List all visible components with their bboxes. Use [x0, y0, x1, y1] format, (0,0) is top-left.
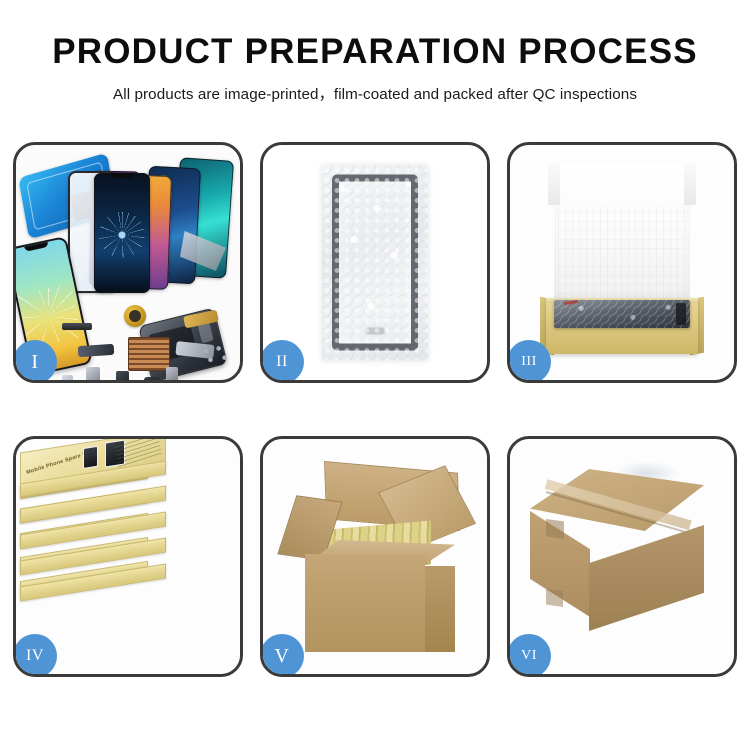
process-step-grid: I II III [13, 142, 737, 677]
bracket-part-icon [166, 367, 178, 380]
phone-notch-icon [24, 242, 49, 252]
step-badge-5: V [260, 634, 304, 677]
process-step-panel-6[interactable]: VI [507, 436, 737, 677]
speaker-coil-part-icon [124, 305, 146, 327]
packed-screen-graphic [554, 300, 690, 328]
process-step-panel-4[interactable]: Mobile Phone Spare Parts Mobile Phone Sp… [13, 436, 243, 677]
step-badge-6: VI [507, 634, 551, 677]
process-step-panel-1[interactable]: I [13, 142, 243, 383]
process-step-panel-2[interactable]: II [260, 142, 490, 383]
screen-crack-graphic [99, 212, 145, 258]
step-badge-2: II [260, 340, 304, 383]
phone-notch-icon [110, 173, 134, 178]
step-badge-3: III [507, 340, 551, 383]
taptic-part-icon [144, 377, 160, 380]
box-stack-group: Mobile Phone Spare Parts Mobile Phone Sp… [20, 453, 232, 645]
page-title: PRODUCT PREPARATION PROCESS [0, 34, 750, 71]
process-step-panel-5[interactable]: V [260, 436, 490, 677]
connector-chip-part-icon [128, 337, 170, 371]
box-spec-lines [115, 439, 162, 467]
step-badge-1: I [13, 340, 57, 383]
carton-side-front [305, 554, 425, 652]
foam-texture [558, 207, 686, 303]
flex-cable-part-icon [78, 344, 115, 357]
step-badge-4: IV [13, 634, 57, 677]
phone-graphic-dark [94, 173, 150, 293]
sealed-carton-right-face [589, 525, 704, 631]
home-button-icon [364, 327, 386, 336]
carton-tab [546, 589, 563, 607]
box-artwork-thumb [83, 446, 98, 469]
page-header: PRODUCT PREPARATION PROCESS All products… [0, 0, 750, 104]
earpiece-part-icon [62, 323, 92, 330]
bubble-wrapped-screen-graphic [322, 165, 428, 360]
page-subtitle: All products are image-printed，film-coat… [0, 82, 750, 104]
process-step-panel-3[interactable]: III [507, 142, 737, 383]
camera-module-part-icon [116, 371, 129, 380]
screws-icon [200, 344, 230, 366]
sim-tray-part-icon [86, 367, 100, 380]
screen-outline-graphic [332, 175, 418, 351]
button-part-icon [62, 375, 73, 380]
carton-tab [546, 519, 564, 539]
